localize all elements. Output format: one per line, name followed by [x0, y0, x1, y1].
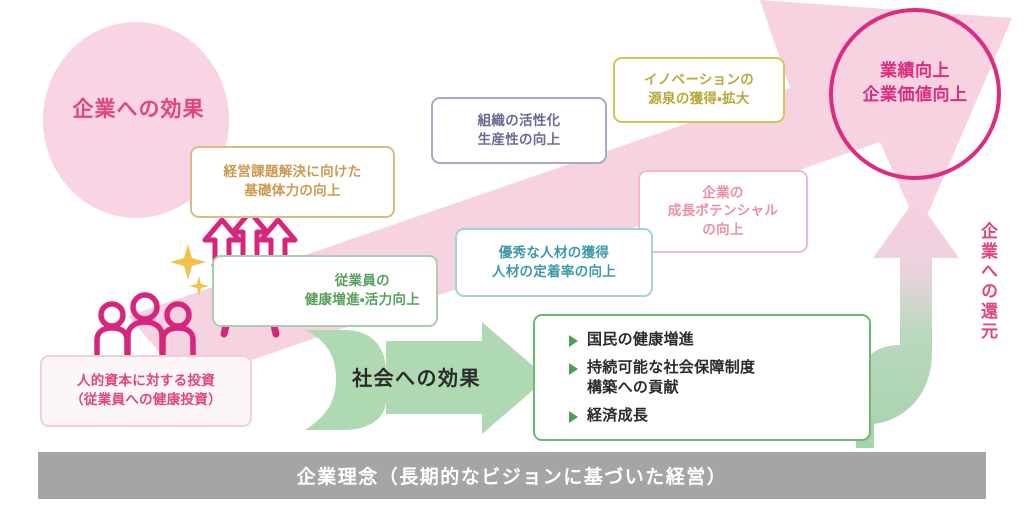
box-innovation-source-text: イノベーションの 源泉の獲得・拡大 [644, 71, 754, 108]
list-item-label: 国民の健康増進 [587, 330, 694, 350]
society-effect-label: 社会への効果 [352, 362, 481, 391]
box-growth-potential[interactable]: 企業の 成長ポテンシャル の向上 [638, 170, 808, 253]
box-organization-vitalization-text: 組織の活性化 生産性の向上 [478, 112, 561, 149]
performance-circle-label: 業績向上 企業価値向上 [829, 59, 1001, 107]
triangle-bullet-icon [569, 411, 578, 423]
triangle-bullet-icon [569, 335, 578, 347]
people-group-icon [97, 295, 193, 356]
box-human-capital-investment[interactable]: 人的資本に対する投資 （従業員への健康投資） [40, 355, 252, 427]
society-effects-list[interactable]: 国民の健康増進 持続可能な社会保障制度 構築への貢献 経済成長 [533, 314, 871, 441]
corporate-philosophy-label: 企業理念（長期的なビジョンに基づいた経営） [297, 462, 728, 489]
diagram-canvas: 企業への効果 業績向上 企業価値向上 経営課題解決に向けた 基礎体力の向上 組織… [0, 0, 1024, 521]
box-talent-acquisition-text: 優秀な人材の獲得 人材の定着率の向上 [492, 244, 616, 281]
box-organization-vitalization[interactable]: 組織の活性化 生産性の向上 [431, 97, 607, 164]
list-item-label: 経済成長 [587, 406, 648, 426]
box-management-issues-text: 経営課題解決に向けた 基礎体力の向上 [224, 163, 362, 200]
box-growth-potential-text: 企業の 成長ポテンシャル の向上 [668, 184, 778, 240]
corporate-philosophy-bar: 企業理念（長期的なビジョンに基づいた経営） [38, 452, 986, 499]
list-item-label: 持続可能な社会保障制度 構築への貢献 [587, 358, 755, 398]
box-employee-health-text: 従業員の 健康増進・活力向上 [305, 272, 420, 309]
list-item: 持続可能な社会保障制度 構築への貢献 [569, 358, 869, 398]
company-effect-label: 企業への効果 [46, 93, 231, 123]
box-human-capital-investment-text: 人的資本に対する投資 （従業員への健康投資） [70, 372, 222, 409]
sparkle-icon [170, 244, 209, 296]
return-to-company-label: 企業への還元 [975, 222, 1000, 342]
box-talent-acquisition[interactable]: 優秀な人材の獲得 人材の定着率の向上 [455, 228, 653, 297]
box-employee-health[interactable]: 従業員の 健康増進・活力向上 [212, 255, 438, 327]
box-management-issues[interactable]: 経営課題解決に向けた 基礎体力の向上 [190, 146, 395, 218]
list-item: 経済成長 [569, 406, 869, 426]
triangle-bullet-icon [569, 363, 578, 375]
box-innovation-source[interactable]: イノベーションの 源泉の獲得・拡大 [613, 57, 785, 123]
list-item: 国民の健康増進 [569, 330, 869, 350]
